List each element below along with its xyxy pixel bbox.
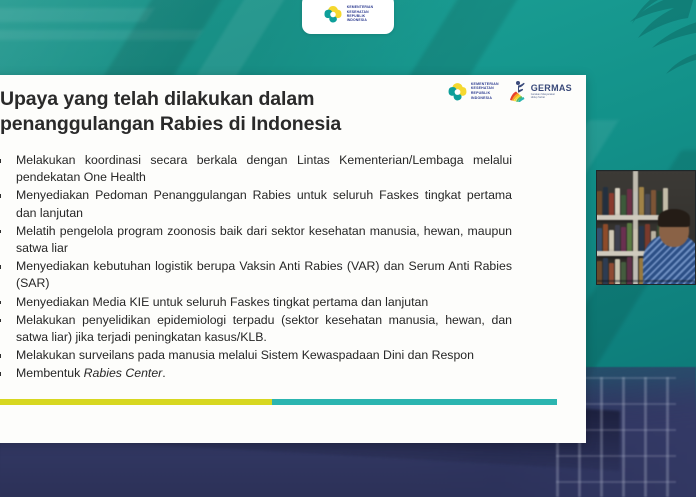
list-item-suffix: . [162, 366, 165, 380]
slide-kemenkes-logo: KEMENTERIAN KESEHATAN REPUBLIK INDONESIA [447, 81, 499, 102]
participant-name-label [597, 280, 695, 282]
list-item: Menyediakan Pedoman Penanggulangan Rabie… [0, 187, 512, 221]
list-item: Menyediakan kebutuhan logistik berupa Va… [0, 258, 512, 292]
list-item: Melakukan penyelidikan epidemiologi terp… [0, 312, 512, 346]
germas-logo-name: GERMAS [531, 83, 572, 93]
screen: KEMENTERIAN KESEHATAN REPUBLIK INDONESIA… [0, 0, 696, 497]
list-item-prefix: Membentuk [16, 366, 84, 380]
kemenkes-logo-icon [323, 4, 343, 24]
footer-bar-teal [272, 399, 557, 405]
slide-logo-group: KEMENTERIAN KESEHATAN REPUBLIK INDONESIA… [447, 80, 572, 102]
slide-title: Upaya yang telah dilakukan dalam penangg… [0, 87, 400, 137]
slide-bullet-list: Melakukan koordinasi secara berkala deng… [0, 152, 512, 384]
slide-kemenkes-logo-text: KEMENTERIAN KESEHATAN REPUBLIK INDONESIA [471, 82, 499, 100]
list-item: Melakukan surveilans pada manusia melalu… [0, 347, 512, 364]
list-item: Menyediakan Media KIE untuk seluruh Fask… [0, 294, 512, 311]
top-banner-logo-card: KEMENTERIAN KESEHATAN REPUBLIK INDONESIA [302, 0, 394, 34]
list-item-italic: Rabies Center [84, 366, 163, 380]
presentation-slide: KEMENTERIAN KESEHATAN REPUBLIK INDONESIA… [0, 75, 586, 443]
list-item-rabies-center: Membentuk Rabies Center. [0, 365, 512, 382]
video-blur-overlay [597, 171, 695, 284]
slide-germas-logo: GERMAS Gerakan Masyarakat Hidup Sehat [508, 80, 572, 102]
list-item: Melakukan koordinasi secara berkala deng… [0, 152, 512, 186]
list-item: Melatih pengelola program zoonosis baik … [0, 223, 512, 257]
participant-video-tile[interactable] [596, 170, 696, 285]
footer-bar-yellow [0, 399, 272, 405]
germas-logo-subtitle: Gerakan Masyarakat Hidup Sehat [531, 93, 572, 100]
germas-logo-icon [508, 80, 528, 102]
slide-footer-bars [0, 399, 586, 405]
kemenkes-logo-icon [447, 81, 468, 102]
top-banner-logo-text: KEMENTERIAN KESEHATAN REPUBLIK INDONESIA [347, 5, 374, 23]
